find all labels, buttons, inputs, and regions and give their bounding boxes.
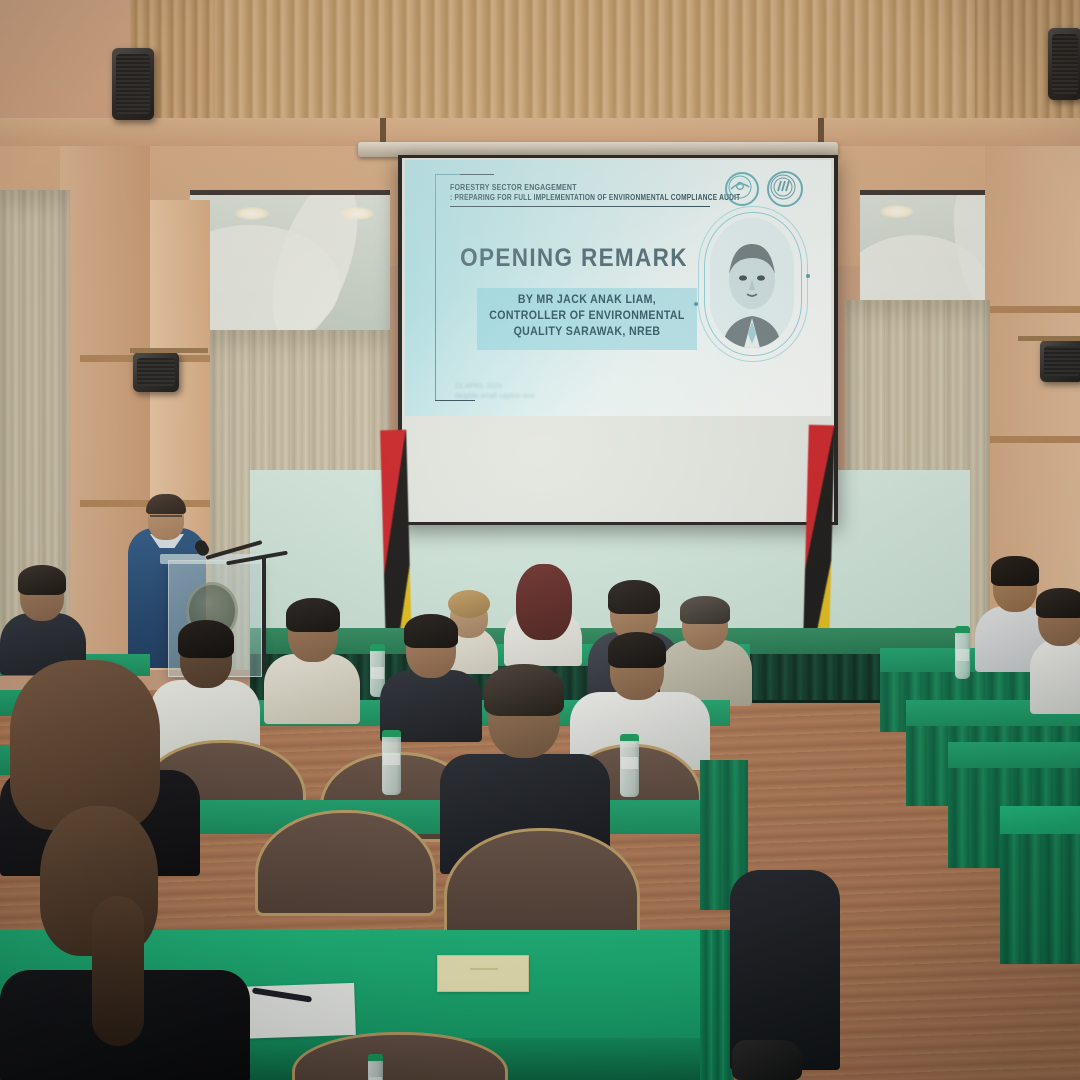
- attendee-beige-shirt: [264, 598, 360, 714]
- speaker-bracket-right: [1018, 336, 1080, 341]
- wall-speaker-left: [133, 352, 179, 392]
- organisation-logo-icon: [767, 171, 803, 207]
- white-paper-sheet: [232, 983, 356, 1039]
- table-right-3: [948, 742, 1080, 768]
- slide-subtitle-line3: QUALITY SARAWAK, NREB: [477, 324, 698, 340]
- slide-subtitle-line1: BY MR JACK ANAK LIAM,: [477, 292, 698, 308]
- slide-header-line1: FORESTRY SECTOR ENGAGEMENT: [450, 182, 577, 192]
- ribbed-wood-panel-inner: [215, 0, 975, 135]
- conference-room-photo: FORESTRY SECTOR ENGAGEMENT : PREPARING F…: [0, 0, 1080, 1080]
- slide-footer-line2: illegible small caption text: [455, 392, 534, 402]
- water-bottle: [620, 734, 639, 797]
- slide-title: OPENING REMARK: [422, 244, 726, 273]
- attendee-front-left-ponytail: [0, 800, 250, 1080]
- attendee-far-left-dark: [0, 565, 86, 670]
- attendee-right-grey-shirt: [1030, 588, 1080, 708]
- glass-panel-left: [190, 190, 390, 338]
- slide-footer: 22 APRIL 2024 illegible small caption te…: [455, 382, 534, 402]
- speaker-bracket-left: [130, 348, 208, 353]
- slide-header-line2: : PREPARING FOR FULL IMPLEMENTATION OF E…: [450, 193, 740, 202]
- presenter-hair: [146, 494, 186, 514]
- water-bottle: [382, 730, 401, 795]
- water-bottle: [955, 626, 970, 679]
- table-corner-drape: [700, 930, 734, 1080]
- notepad-text-line: [470, 968, 498, 970]
- presenter-glasses: [150, 515, 182, 524]
- ceiling-speaker-left: [112, 48, 154, 120]
- shoe: [732, 1040, 802, 1080]
- water-bottle: [368, 1054, 383, 1080]
- table-right-4: [1000, 806, 1080, 834]
- table-skirt-right-4: [1000, 834, 1080, 964]
- speaker-portrait: [710, 218, 794, 348]
- yellow-notepad: [437, 955, 529, 992]
- nreb-logo-icon: [725, 172, 759, 206]
- slide-footer-line1: 22 APRIL 2024: [455, 382, 534, 392]
- slide-subtitle-line2: CONTROLLER OF ENVIRONMENTAL: [477, 308, 698, 324]
- presentation-slide: FORESTRY SECTOR ENGAGEMENT : PREPARING F…: [405, 160, 831, 416]
- ceiling-speaker-right: [1048, 28, 1080, 100]
- wall-speaker-right: [1040, 340, 1080, 382]
- slide-subtitle: BY MR JACK ANAK LIAM, CONTROLLER OF ENVI…: [477, 292, 698, 340]
